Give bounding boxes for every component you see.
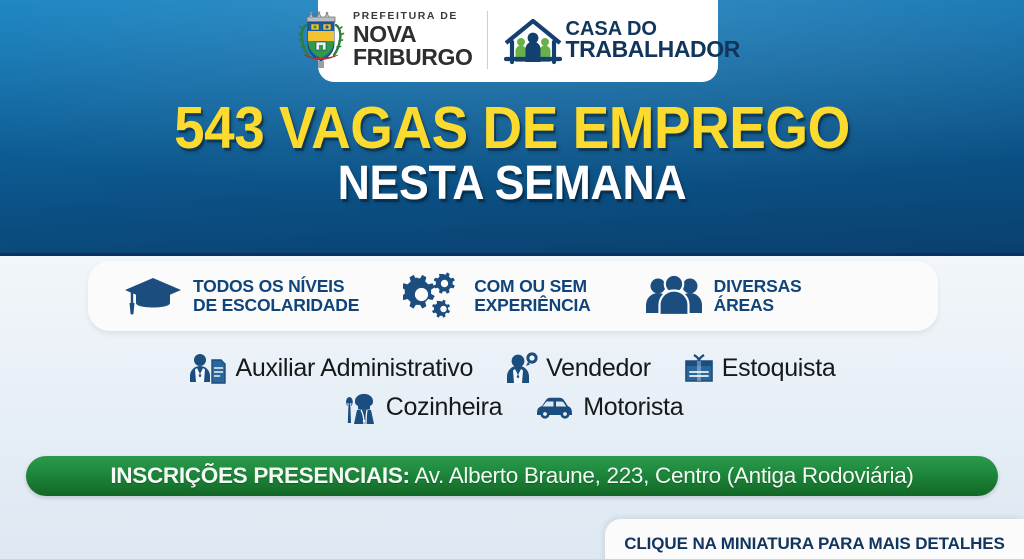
feature-line1: COM OU SEM: [474, 277, 590, 296]
headline-line1: 543 VAGAS DE EMPREGO: [36, 100, 988, 156]
graduation-cap-icon: [122, 272, 184, 320]
feature-text-escolaridade: TODOS OS NÍVEIS DE ESCOLARIDADE: [193, 277, 359, 314]
feature-line1: TODOS OS NÍVEIS: [193, 277, 359, 296]
job-item-cozinheira: Cozinheira: [341, 390, 503, 424]
casa-text: CASA DO TRABALHADOR: [566, 20, 740, 61]
features-card: TODOS OS NÍVEIS DE ESCOLARIDADE: [88, 261, 938, 331]
feature-text-experiencia: COM OU SEM EXPERIÊNCIA: [474, 277, 590, 314]
prefeitura-text: PREFEITURA DE NOVA FRIBURGO: [353, 11, 472, 68]
address-text: INSCRIÇÕES PRESENCIAIS: Av. Alberto Brau…: [110, 463, 913, 489]
cta-bar[interactable]: CLIQUE NA MINIATURA PARA MAIS DETALHES: [605, 519, 1024, 559]
logo-divider: [487, 11, 488, 69]
job-label: Estoquista: [722, 354, 836, 383]
coat-of-arms-icon: [296, 9, 346, 71]
feature-line2: EXPERIÊNCIA: [474, 296, 590, 315]
feature-line2: DE ESCOLARIDADE: [193, 296, 359, 315]
casa-line2: TRABALHADOR: [566, 39, 740, 61]
headline: 543 VAGAS DE EMPREGO NESTA SEMANA: [0, 100, 1024, 208]
logo-group: PREFEITURA DE NOVA FRIBURGO: [296, 9, 740, 71]
address-bar: INSCRIÇÕES PRESENCIAIS: Av. Alberto Brau…: [26, 456, 998, 496]
logo-card: PREFEITURA DE NOVA FRIBURGO: [318, 0, 718, 82]
job-row: Auxiliar Administrativo Vendedor: [0, 352, 1024, 384]
car-icon: [534, 393, 576, 421]
job-item-vendedor: Vendedor: [505, 352, 651, 384]
content-section: TODOS OS NÍVEIS DE ESCOLARIDADE: [0, 256, 1024, 559]
feature-text-areas: DIVERSAS ÁREAS: [714, 277, 802, 314]
city-name-line1: NOVA: [353, 23, 472, 45]
casa-do-trabalhador-logo: CASA DO TRABALHADOR: [502, 15, 740, 65]
job-row: Cozinheira Motorista: [0, 390, 1024, 424]
package-box-icon: [683, 352, 715, 384]
job-label: Motorista: [583, 393, 683, 422]
house-with-people-icon: [502, 15, 564, 65]
feature-item-areas: DIVERSAS ÁREAS: [643, 273, 802, 319]
job-label: Cozinheira: [386, 393, 503, 422]
cta-text: CLIQUE NA MINIATURA PARA MAIS DETALHES: [624, 534, 1005, 554]
people-group-icon: [643, 273, 705, 319]
headline-line2: NESTA SEMANA: [36, 160, 988, 208]
chef-spatula-icon: [341, 390, 379, 424]
job-item-auxiliar-administrativo: Auxiliar Administrativo: [188, 352, 473, 384]
job-label: Auxiliar Administrativo: [235, 354, 473, 383]
job-label: Vendedor: [546, 354, 651, 383]
hero-banner: PREFEITURA DE NOVA FRIBURGO: [0, 0, 1024, 256]
feature-item-experiencia: COM OU SEM EXPERIÊNCIA: [403, 271, 590, 321]
job-item-motorista: Motorista: [534, 393, 683, 422]
feature-line1: DIVERSAS: [714, 277, 802, 296]
job-item-estoquista: Estoquista: [683, 352, 836, 384]
address-value: Av. Alberto Braune, 223, Centro (Antiga …: [414, 463, 913, 488]
office-worker-document-icon: [188, 352, 228, 384]
gears-icon: [403, 271, 465, 321]
feature-line2: ÁREAS: [714, 296, 802, 315]
city-name-line2: FRIBURGO: [353, 46, 472, 68]
salesperson-icon: [505, 352, 539, 384]
feature-item-escolaridade: TODOS OS NÍVEIS DE ESCOLARIDADE: [122, 272, 359, 320]
address-label: INSCRIÇÕES PRESENCIAIS:: [110, 463, 409, 488]
job-list: Auxiliar Administrativo Vendedor: [0, 352, 1024, 424]
